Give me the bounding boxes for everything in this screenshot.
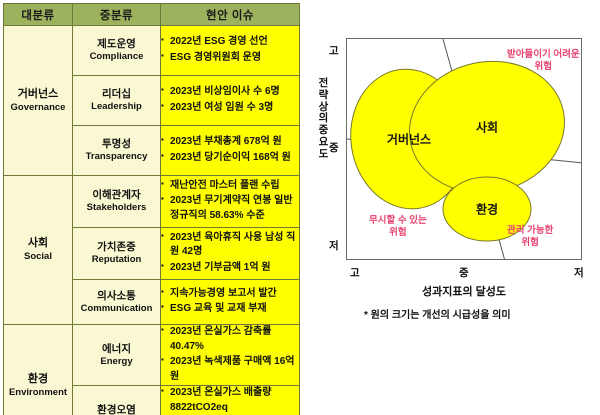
table-header-row: 대분류 중분류 현안 이슈 (4, 4, 300, 26)
plot-area: 거버넌스사회환경 받아들이기 어려운위험무시할 수 있는위험관리 가능한위험 (346, 38, 582, 260)
y-tick-high: 고 (329, 43, 339, 58)
subcategory-label-ko: 투명성 (73, 137, 160, 151)
category-label-en: Social (4, 251, 72, 264)
issue-item: 2023년 온실가스 배출량 8822tCO2eq (161, 386, 299, 415)
issue-item: 지속가능경영 보고서 발간 (161, 287, 299, 302)
issue-item: 2023년 기부금액 1억 원 (161, 261, 299, 276)
subcategory-cell: 이해관계자Stakeholders (73, 176, 161, 228)
issue-item: 2023년 부채총계 678억 원 (161, 135, 299, 150)
table-row: 거버넌스Governance제도운영Compliance2022년 ESG 경영… (4, 26, 300, 76)
y-tick-mid: 중 (329, 140, 339, 155)
table-row: 환경Environment에너지Energy2023년 온실가스 감축률 40.… (4, 325, 300, 386)
issue-cell: 2023년 비상임이사 수 6명2023년 여성 임원 수 3명 (161, 76, 300, 126)
column-header-issue: 현안 이슈 (161, 4, 300, 26)
materiality-matrix-chart: 전략상의 중요도 고 중 저 거버넌스사회환경 받아들이기 어려운위험무시할 수… (302, 0, 600, 415)
column-header-subcategory: 중분류 (73, 4, 161, 26)
subcategory-cell: 리더십Leadership (73, 76, 161, 126)
column-header-category: 대분류 (4, 4, 73, 26)
subcategory-label-ko: 에너지 (73, 342, 160, 356)
x-tick-mid: 중 (459, 265, 469, 280)
issue-item: 2023년 여성 임원 수 3명 (161, 101, 299, 116)
subcategory-label-en: Reputation (73, 254, 160, 267)
issue-list: 지속가능경영 보고서 발간ESG 교육 및 교재 부재 (161, 287, 299, 317)
subcategory-label-ko: 의사소통 (73, 289, 160, 303)
issue-item: 재난안전 마스터 플랜 수립 (161, 179, 299, 194)
subcategory-label-ko: 제도운영 (73, 37, 160, 51)
subcategory-label-en: Compliance (73, 51, 160, 64)
zone-label: 무시할 수 있는위험 (369, 215, 427, 240)
subcategory-label-ko: 리더십 (73, 87, 160, 101)
subcategory-cell: 에너지Energy (73, 325, 161, 386)
issue-cell: 2023년 부채총계 678억 원2023년 당기순이익 168억 원 (161, 126, 300, 176)
issue-list: 재난안전 마스터 플랜 수립2023년 무기계약직 연봉 일반정규직의 58.6… (161, 179, 299, 224)
issue-list: 2022년 ESG 경영 선언ESG 경영위원회 운영 (161, 35, 299, 65)
issue-cell: 2023년 육아휴직 사용 남성 직원 42명2023년 기부금액 1억 원 (161, 228, 300, 280)
subcategory-cell: 가치존중Reputation (73, 228, 161, 280)
issue-list: 2023년 온실가스 감축률 40.47%2023년 녹색제품 구매액 16억 … (161, 325, 299, 384)
issue-cell: 2023년 온실가스 감축률 40.47%2023년 녹색제품 구매액 16억 … (161, 325, 300, 386)
subcategory-label-en: Leadership (73, 101, 160, 114)
zone-label-line2: 위험 (369, 227, 427, 239)
zone-label-line1: 관리 가능한 (507, 225, 553, 237)
issue-cell: 2023년 온실가스 배출량 8822tCO2eq2022년 사업장 폐기물 배… (161, 386, 300, 415)
zone-label-line1: 받아들이기 어려운 (507, 49, 580, 61)
category-label-en: Governance (4, 102, 72, 115)
bubble-label: 사회 (476, 119, 498, 136)
subcategory-label-en: Communication (73, 303, 160, 316)
issue-cell: 2022년 ESG 경영 선언ESG 경영위원회 운영 (161, 26, 300, 76)
category-cell: 거버넌스Governance (4, 26, 73, 176)
category-label-ko: 환경 (4, 372, 72, 387)
subcategory-cell: 환경오염Pollution (73, 386, 161, 415)
issue-item: 2023년 육아휴직 사용 남성 직원 42명 (161, 231, 299, 260)
category-label-ko: 사회 (4, 236, 72, 251)
category-cell: 환경Environment (4, 325, 73, 415)
x-tick-high: 고 (350, 265, 360, 280)
table-row: 사회Social이해관계자Stakeholders재난안전 마스터 플랜 수립2… (4, 176, 300, 228)
zone-label: 받아들이기 어려운위험 (507, 49, 580, 74)
bubble-label: 거버넌스 (387, 131, 431, 148)
issue-item: ESG 경영위원회 운영 (161, 51, 299, 66)
issue-item: 2023년 온실가스 감축률 40.47% (161, 325, 299, 354)
esg-materiality-figure: 대분류 중분류 현안 이슈 거버넌스Governance제도운영Complian… (0, 0, 600, 415)
issue-list: 2023년 부채총계 678억 원2023년 당기순이익 168억 원 (161, 135, 299, 165)
subcategory-cell: 의사소통Communication (73, 280, 161, 325)
subcategory-cell: 제도운영Compliance (73, 26, 161, 76)
issue-item: 2023년 무기계약직 연봉 일반정규직의 58.63% 수준 (161, 194, 299, 223)
bubble-group (347, 47, 577, 241)
issue-list: 2023년 온실가스 배출량 8822tCO2eq2022년 사업장 폐기물 배… (161, 386, 299, 415)
table-body: 거버넌스Governance제도운영Compliance2022년 ESG 경영… (4, 26, 300, 415)
chart-note: * 원의 크기는 개선의 시급성을 의미 (364, 306, 600, 321)
category-label-en: Environment (4, 387, 72, 400)
subcategory-label-ko: 가치존중 (73, 240, 160, 254)
zone-label-line2: 위험 (507, 237, 553, 249)
subcategory-label-ko: 이해관계자 (73, 188, 160, 202)
x-tick-low: 저 (574, 265, 584, 280)
issue-item: ESG 교육 및 교재 부재 (161, 302, 299, 317)
esg-issue-table: 대분류 중분류 현안 이슈 거버넌스Governance제도운영Complian… (3, 3, 300, 415)
issue-list: 2023년 비상임이사 수 6명2023년 여성 임원 수 3명 (161, 85, 299, 115)
issue-cell: 재난안전 마스터 플랜 수립2023년 무기계약직 연봉 일반정규직의 58.6… (161, 176, 300, 228)
y-tick-low: 저 (329, 238, 339, 253)
issue-item: 2023년 녹색제품 구매액 16억 원 (161, 355, 299, 384)
issue-item: 2022년 ESG 경영 선언 (161, 35, 299, 50)
issue-list: 2023년 육아휴직 사용 남성 직원 42명2023년 기부금액 1억 원 (161, 231, 299, 276)
category-label-ko: 거버넌스 (4, 87, 72, 102)
zone-label-line2: 위험 (507, 61, 580, 73)
issue-item: 2023년 비상임이사 수 6명 (161, 85, 299, 100)
issue-cell: 지속가능경영 보고서 발간ESG 교육 및 교재 부재 (161, 280, 300, 325)
zone-label-line1: 무시할 수 있는 (369, 215, 427, 227)
issue-item: 2023년 당기순이익 168억 원 (161, 151, 299, 166)
bubble-label: 환경 (476, 201, 498, 218)
subcategory-label-en: Energy (73, 356, 160, 369)
zone-label: 관리 가능한위험 (507, 225, 553, 250)
x-axis-title: 성과지표의 달성도 (346, 283, 582, 299)
subcategory-label-en: Stakeholders (73, 202, 160, 215)
subcategory-label-en: Transparency (73, 151, 160, 164)
category-cell: 사회Social (4, 176, 73, 325)
subcategory-cell: 투명성Transparency (73, 126, 161, 176)
subcategory-label-ko: 환경오염 (73, 403, 160, 415)
